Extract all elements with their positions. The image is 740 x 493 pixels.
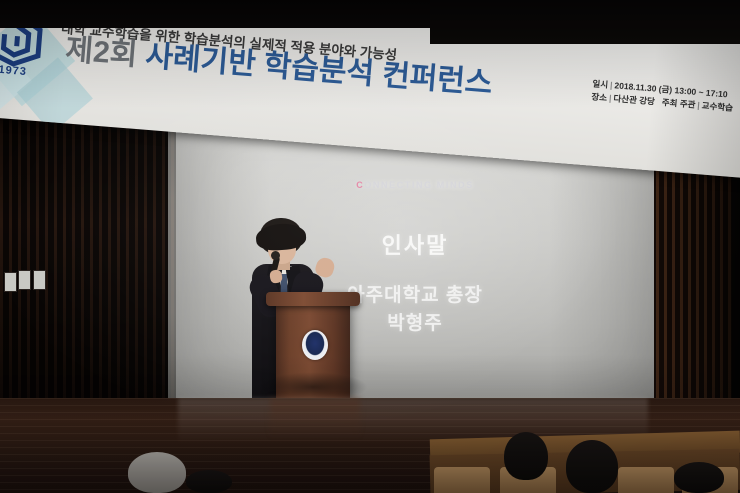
audience-head-gray (128, 452, 186, 493)
wall-left-shading (0, 104, 182, 400)
wall-switch-plate-3 (33, 270, 46, 290)
university-seal-emblem (302, 330, 328, 360)
audience-head-dark-far-right (674, 462, 724, 493)
audience-head-dark-left (186, 470, 232, 493)
ceiling-band-right (430, 0, 740, 44)
conference-photo-scene: CONNECTING MINDS 인사말 아주대학교 총장 박형주 (0, 0, 740, 493)
podium-top-surface (266, 292, 360, 306)
seat-back-3 (618, 467, 674, 493)
microphone-head-icon (271, 251, 280, 260)
wall-switch-plate-1 (4, 272, 17, 292)
wall-switch-plate-2 (18, 270, 31, 290)
audience-head-dark-center (504, 432, 548, 480)
seat-back-1 (434, 467, 490, 493)
audience-head-dark-right (566, 440, 618, 493)
